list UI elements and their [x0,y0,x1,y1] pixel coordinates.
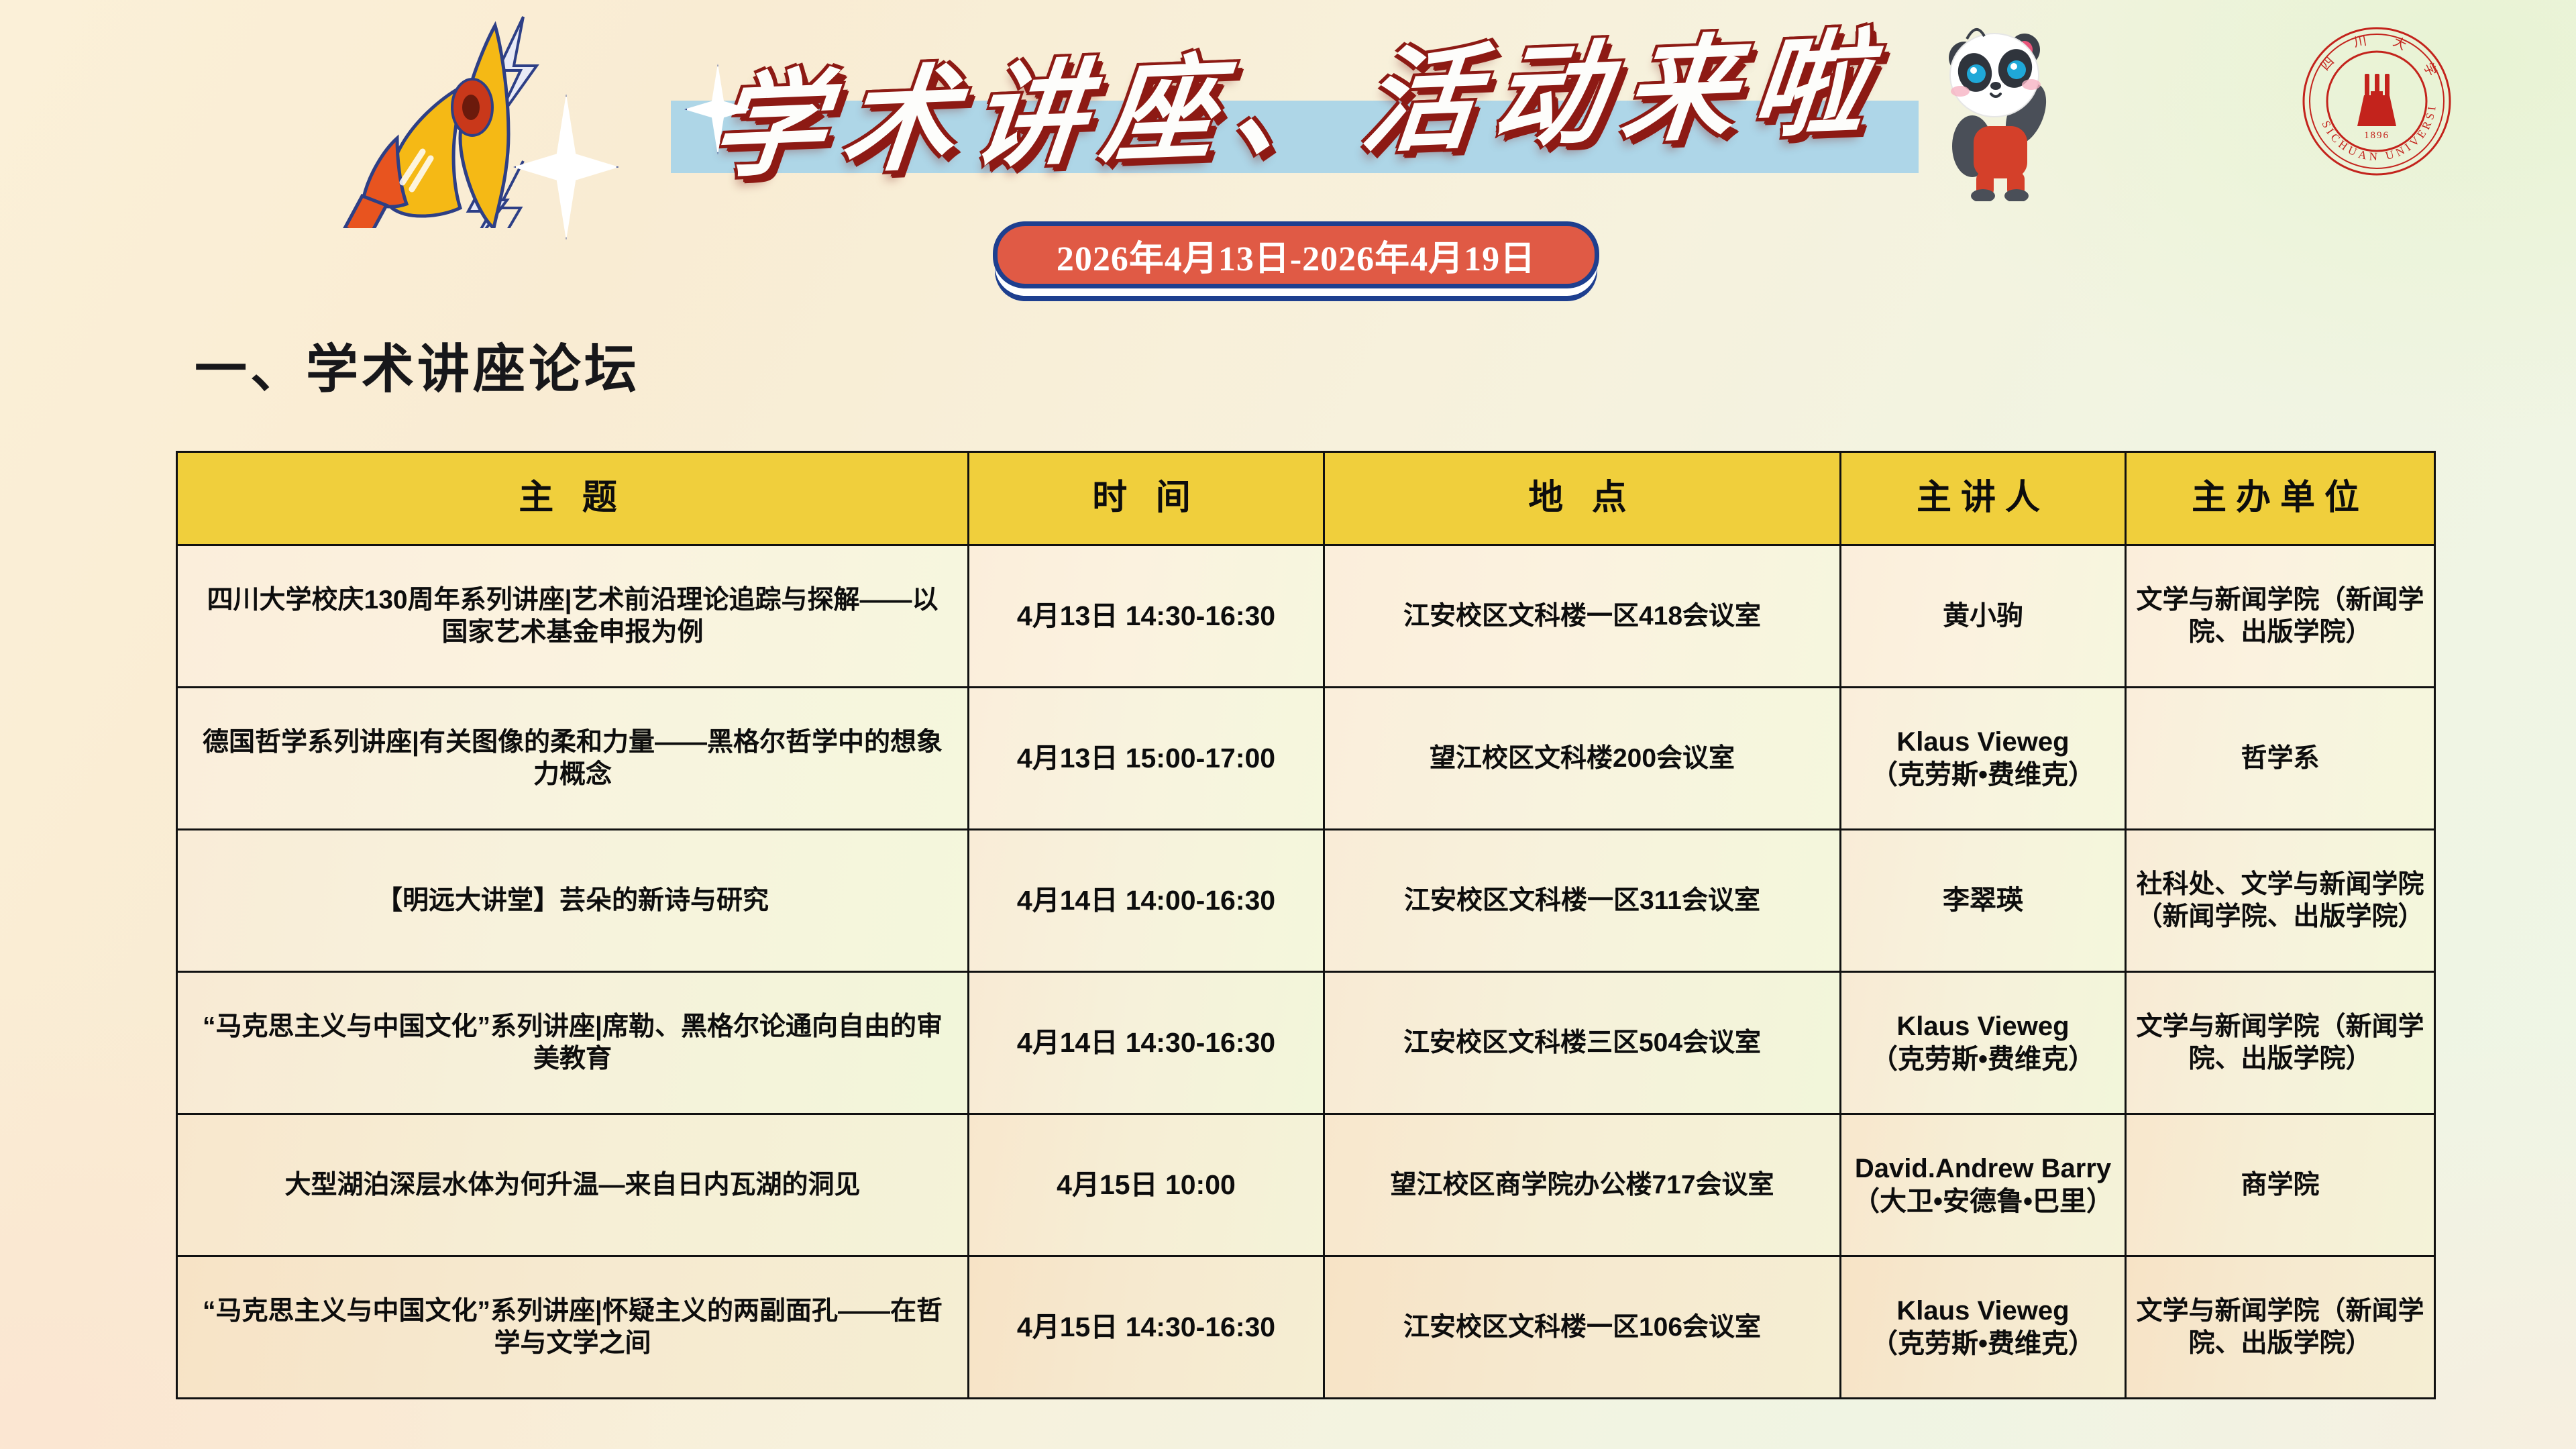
cell-org: 文学与新闻学院（新闻学院、出版学院） [2126,545,2435,688]
column-header-speaker: 主讲人 [1841,452,2126,545]
cell-topic: 大型湖泊深层水体为何升温—来自日内瓦湖的洞见 [177,1114,969,1256]
cell-topic: 【明远大讲堂】芸朵的新诗与研究 [177,830,969,972]
cell-topic: 德国哲学系列讲座|有关图像的柔和力量——黑格尔哲学中的想象力概念 [177,688,969,830]
date-range-badge: 2026年4月13日-2026年4月19日 [993,221,1599,288]
section-heading: 一、学术讲座论坛 [195,327,640,402]
cell-org: 哲学系 [2126,688,2435,830]
cell-place: 江安校区文科楼一区106会议室 [1324,1256,1841,1399]
table-row: 德国哲学系列讲座|有关图像的柔和力量——黑格尔哲学中的想象力概念 4月13日 1… [177,688,2435,830]
table-row: 大型湖泊深层水体为何升温—来自日内瓦湖的洞见 4月15日 10:00 望江校区商… [177,1114,2435,1256]
panda-mascot-icon [1925,13,2080,201]
cell-org: 文学与新闻学院（新闻学院、出版学院） [2126,972,2435,1114]
table-body: 四川大学校庆130周年系列讲座|艺术前沿理论追踪与探解——以国家艺术基金申报为例… [177,545,2435,1399]
lectures-table: 主 题 时 间 地 点 主讲人 主办单位 四川大学校庆130周年系列讲座|艺术前… [176,451,2436,1399]
cell-org: 社科处、文学与新闻学院（新闻学院、出版学院） [2126,830,2435,972]
cell-time: 4月15日 10:00 [969,1114,1324,1256]
cell-place: 望江校区文科楼200会议室 [1324,688,1841,830]
cell-topic: 四川大学校庆130周年系列讲座|艺术前沿理论追踪与探解——以国家艺术基金申报为例 [177,545,969,688]
sichuan-university-logo: 四 川 大 学 SICHUAN UNIVERSITY 1896 [2301,25,2453,177]
cell-speaker: Klaus Vieweg（克劳斯•费维克） [1841,1256,2126,1399]
cell-speaker: 李翠瑛 [1841,830,2126,972]
cell-place: 江安校区文科楼三区504会议室 [1324,972,1841,1114]
cell-place: 望江校区商学院办公楼717会议室 [1324,1114,1841,1256]
cell-time: 4月13日 15:00-17:00 [969,688,1324,830]
column-header-org: 主办单位 [2126,452,2435,545]
column-header-place: 地 点 [1324,452,1841,545]
cell-org: 商学院 [2126,1114,2435,1256]
table-row: 【明远大讲堂】芸朵的新诗与研究 4月14日 14:00-16:30 江安校区文科… [177,830,2435,972]
table-row: “马克思主义与中国文化”系列讲座|席勒、黑格尔论通向自由的审美教育 4月14日 … [177,972,2435,1114]
megaphone-icon [322,7,637,228]
date-range-label: 2026年4月13日-2026年4月19日 [1057,230,1536,280]
cell-speaker: Klaus Vieweg（克劳斯•费维克） [1841,688,2126,830]
table-row: “马克思主义与中国文化”系列讲座|怀疑主义的两副面孔——在哲学与文学之间 4月1… [177,1256,2435,1399]
cell-speaker: Klaus Vieweg（克劳斯•费维克） [1841,972,2126,1114]
cell-time: 4月14日 14:00-16:30 [969,830,1324,972]
cell-speaker: 黄小驹 [1841,545,2126,688]
table-row: 四川大学校庆130周年系列讲座|艺术前沿理论追踪与探解——以国家艺术基金申报为例… [177,545,2435,688]
column-header-topic: 主 题 [177,452,969,545]
cell-place: 江安校区文科楼一区311会议室 [1324,830,1841,972]
page-title: 学术讲座、活动来啦 [704,15,1919,217]
svg-text:1896: 1896 [2364,130,2390,141]
cell-topic: “马克思主义与中国文化”系列讲座|席勒、黑格尔论通向自由的审美教育 [177,972,969,1114]
cell-topic: “马克思主义与中国文化”系列讲座|怀疑主义的两副面孔——在哲学与文学之间 [177,1256,969,1399]
column-header-time: 时 间 [969,452,1324,545]
cell-time: 4月15日 14:30-16:30 [969,1256,1324,1399]
sparkle-icon-small [684,64,746,150]
sparkle-icon [513,94,614,235]
cell-speaker: David.Andrew Barry（大卫•安德鲁•巴里） [1841,1114,2126,1256]
poster-header: 学术讲座、活动来啦 2026年4月13日-2026年4月19日 [0,0,2576,309]
cell-org: 文学与新闻学院（新闻学院、出版学院） [2126,1256,2435,1399]
table-header-row: 主 题 时 间 地 点 主讲人 主办单位 [177,452,2435,545]
cell-time: 4月13日 14:30-16:30 [969,545,1324,688]
cell-time: 4月14日 14:30-16:30 [969,972,1324,1114]
cell-place: 江安校区文科楼一区418会议室 [1324,545,1841,688]
lectures-table-container: 主 题 时 间 地 点 主讲人 主办单位 四川大学校庆130周年系列讲座|艺术前… [176,451,2434,1399]
